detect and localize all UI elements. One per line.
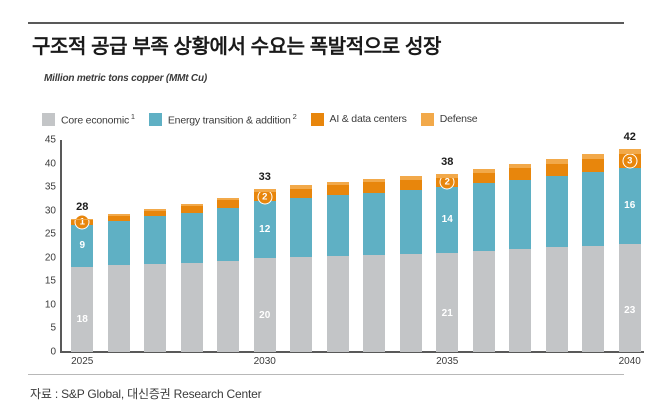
bar-segment-defense[interactable]	[400, 176, 422, 180]
bar-segment-energy-transition[interactable]	[546, 176, 568, 248]
bar-segment-defense[interactable]	[71, 219, 93, 220]
y-axis-tick-label: 35	[30, 182, 56, 193]
bar-segment-core-economic[interactable]	[546, 247, 568, 352]
y-axis-tick-label: 25	[30, 229, 56, 240]
bar-segment-ai-data-centers[interactable]: 1	[71, 220, 93, 225]
segment-value-label: 9	[71, 241, 93, 251]
bar-segment-ai-data-centers[interactable]	[290, 189, 312, 198]
bar-segment-energy-transition[interactable]	[181, 213, 203, 263]
segment-value-label: 23	[619, 306, 641, 316]
bar-column[interactable]: 189128	[71, 219, 93, 352]
bar-segment-defense[interactable]	[363, 179, 385, 182]
bar-segment-ai-data-centers[interactable]	[582, 159, 604, 172]
bar-segment-defense[interactable]	[619, 149, 641, 154]
chart-page: 구조적 공급 부족 상황에서 수요는 폭발적으로 성장 Million metr…	[0, 0, 650, 417]
bar-segment-defense[interactable]	[473, 169, 495, 173]
legend-item: AI & data centers	[311, 113, 407, 126]
bar-segment-energy-transition[interactable]: 9	[71, 225, 93, 267]
bar-segment-defense[interactable]	[108, 214, 130, 215]
bar-segment-core-economic[interactable]	[181, 263, 203, 352]
bar-segment-ai-data-centers[interactable]	[217, 200, 239, 208]
bar-segment-energy-transition[interactable]: 16	[619, 168, 641, 243]
bar-column[interactable]	[181, 204, 203, 352]
bar-total-label: 28	[76, 201, 88, 213]
bar-segment-core-economic[interactable]: 20	[254, 258, 276, 352]
page-title: 구조적 공급 부족 상황에서 수요는 폭발적으로 성장	[32, 30, 632, 59]
bar-segment-ai-data-centers[interactable]	[400, 180, 422, 190]
bar-segment-ai-data-centers[interactable]	[509, 168, 531, 179]
bar-segment-ai-data-centers[interactable]	[546, 164, 568, 176]
bar-segment-defense[interactable]	[546, 159, 568, 164]
header-divider	[28, 22, 624, 24]
bar-column[interactable]	[363, 179, 385, 352]
legend-footnote-marker: 1	[129, 112, 135, 121]
bar-segment-ai-data-centers[interactable]	[181, 206, 203, 213]
bar-segment-ai-data-centers[interactable]	[327, 185, 349, 195]
y-axis-tick-label: 20	[30, 252, 56, 263]
bar-segment-ai-data-centers[interactable]	[473, 173, 495, 183]
bar-column[interactable]	[509, 164, 531, 352]
legend-item-label: Defense	[440, 113, 478, 125]
y-axis-tick-label: 40	[30, 158, 56, 169]
source-caption: 자료 : S&P Global, 대신증권 Research Center	[30, 385, 261, 402]
bar-segment-energy-transition[interactable]	[363, 193, 385, 255]
bar-segment-defense[interactable]	[181, 204, 203, 206]
bar-segment-defense[interactable]	[582, 154, 604, 159]
bar-segment-core-economic[interactable]	[327, 256, 349, 352]
bar-segment-energy-transition[interactable]	[327, 195, 349, 256]
bar-segment-core-economic[interactable]	[217, 261, 239, 352]
chart-legend: Core economic 1Energy transition & addit…	[42, 112, 491, 127]
bar-total-label: 33	[259, 171, 271, 183]
bar-segment-energy-transition[interactable]	[509, 180, 531, 250]
x-axis-tick-label: 2030	[254, 356, 276, 367]
bar-segment-core-economic[interactable]: 18	[71, 267, 93, 352]
bar-total-label: 38	[441, 156, 453, 168]
bar-segment-energy-transition[interactable]	[290, 198, 312, 257]
y-axis-tick-labels: 051015202530354045	[28, 140, 56, 352]
bar-column[interactable]	[473, 169, 495, 352]
bar-column[interactable]: 2012233	[254, 189, 276, 352]
bar-segment-core-economic[interactable]: 23	[619, 244, 641, 352]
bar-column[interactable]	[400, 176, 422, 352]
legend-swatch-icon	[311, 113, 324, 126]
bar-segment-energy-transition[interactable]	[144, 216, 166, 264]
bar-column[interactable]	[217, 198, 239, 353]
legend-item-label: Core economic 1	[61, 112, 135, 127]
bar-segment-energy-transition[interactable]: 14	[436, 187, 458, 253]
bar-column[interactable]: 2316342	[619, 149, 641, 352]
segment-value-label: 16	[619, 201, 641, 211]
legend-swatch-icon	[149, 113, 162, 126]
bar-segment-core-economic[interactable]	[144, 264, 166, 352]
segment-value-label: 18	[71, 315, 93, 325]
y-axis-tick-label: 15	[30, 276, 56, 287]
bar-segment-ai-data-centers[interactable]: 2	[254, 192, 276, 201]
bar-segment-ai-data-centers[interactable]: 3	[619, 154, 641, 168]
bar-column[interactable]	[582, 154, 604, 352]
segment-value-callout: 1	[75, 215, 90, 230]
legend-item-label: Energy transition & addition 2	[168, 112, 297, 127]
bar-segment-defense[interactable]	[144, 209, 166, 211]
bar-segment-energy-transition[interactable]: 12	[254, 201, 276, 258]
bar-segment-defense[interactable]	[217, 198, 239, 201]
bar-segment-core-economic[interactable]: 21	[436, 253, 458, 352]
footer-divider	[28, 374, 624, 375]
bar-segment-ai-data-centers[interactable]	[108, 216, 130, 221]
segment-value-label: 20	[254, 311, 276, 321]
bar-segment-defense[interactable]	[290, 185, 312, 188]
segment-value-callout: 3	[622, 154, 637, 169]
bar-segment-energy-transition[interactable]	[473, 183, 495, 251]
bar-segment-defense[interactable]	[254, 189, 276, 192]
bar-total-label: 42	[624, 131, 636, 143]
chart-subtitle: Million metric tons copper (MMt Cu)	[44, 73, 207, 84]
bar-series-container: 189128201223321142382316342	[60, 140, 644, 352]
y-axis-tick-label: 30	[30, 205, 56, 216]
bar-segment-ai-data-centers[interactable]	[363, 182, 385, 192]
bar-segment-core-economic[interactable]	[582, 246, 604, 352]
bar-column[interactable]	[327, 182, 349, 352]
legend-footnote-marker: 2	[291, 112, 297, 121]
x-axis-tick-label: 2040	[619, 356, 641, 367]
bar-segment-ai-data-centers[interactable]: 2	[436, 178, 458, 187]
segment-value-label: 21	[436, 309, 458, 319]
legend-item: Defense	[421, 113, 478, 126]
bar-segment-ai-data-centers[interactable]	[144, 211, 166, 217]
bar-segment-core-economic[interactable]	[108, 265, 130, 352]
bar-segment-defense[interactable]	[509, 164, 531, 168]
bar-segment-energy-transition[interactable]	[108, 221, 130, 265]
x-axis-tick-label: 2035	[436, 356, 458, 367]
bar-segment-core-economic[interactable]	[290, 257, 312, 352]
bar-column[interactable]	[144, 209, 166, 352]
legend-item: Core economic 1	[42, 112, 135, 127]
bar-column[interactable]	[546, 159, 568, 352]
x-axis-tick-label: 2025	[71, 356, 93, 367]
y-axis-tick-label: 5	[30, 323, 56, 334]
segment-value-label: 14	[436, 215, 458, 225]
bar-segment-energy-transition[interactable]	[400, 190, 422, 254]
bar-segment-core-economic[interactable]	[400, 254, 422, 352]
bar-segment-defense[interactable]	[327, 182, 349, 185]
legend-item-label: AI & data centers	[330, 113, 407, 125]
segment-value-label: 12	[254, 225, 276, 235]
bar-column[interactable]	[290, 185, 312, 352]
legend-item: Energy transition & addition 2	[149, 112, 297, 127]
bar-segment-core-economic[interactable]	[473, 251, 495, 352]
bar-segment-energy-transition[interactable]	[217, 208, 239, 261]
y-axis-tick-label: 45	[30, 135, 56, 146]
bar-column[interactable]: 2114238	[436, 174, 458, 352]
legend-swatch-icon	[42, 113, 55, 126]
bar-segment-core-economic[interactable]	[509, 249, 531, 352]
bar-segment-energy-transition[interactable]	[582, 172, 604, 245]
plot-area: 189128201223321142382316342	[60, 140, 644, 352]
y-axis-tick-label: 10	[30, 299, 56, 310]
bar-segment-core-economic[interactable]	[363, 255, 385, 352]
y-axis-tick-label: 0	[30, 347, 56, 358]
legend-swatch-icon	[421, 113, 434, 126]
x-axis-tick-labels: 2025203020352040	[60, 356, 644, 372]
bar-column[interactable]	[108, 214, 130, 352]
bar-segment-defense[interactable]	[436, 174, 458, 178]
